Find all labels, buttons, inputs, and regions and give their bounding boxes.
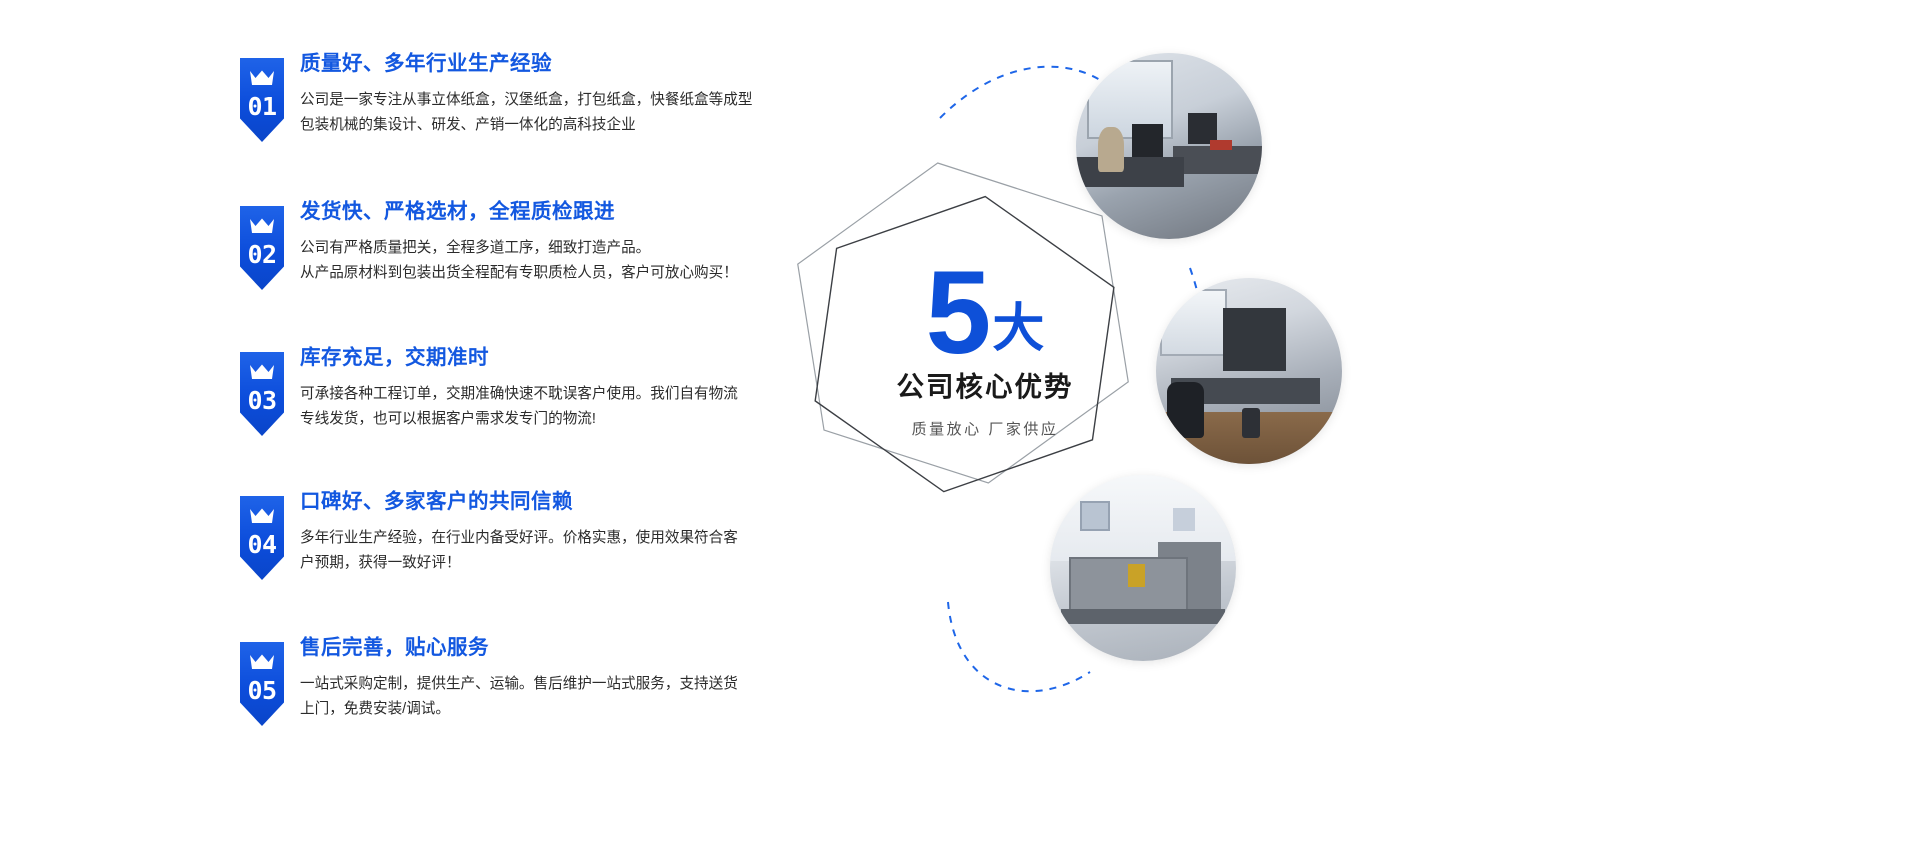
rank-badge: 02: [240, 206, 284, 290]
photo-office-interior: [1156, 278, 1342, 464]
center-subheading: 质量放心 厂家供应: [855, 418, 1115, 439]
rank-number: 04: [240, 530, 284, 559]
big-number-row: 5大: [855, 265, 1115, 362]
center-heading: 公司核心优势: [855, 364, 1115, 404]
photo-image: [1076, 53, 1262, 239]
photo-image: [1050, 475, 1236, 661]
photo-factory-machine: [1050, 475, 1236, 661]
center-badge: 5大 公司核心优势 质量放心 厂家供应: [855, 265, 1115, 439]
rank-badge: 01: [240, 58, 284, 142]
crown-icon: [249, 654, 275, 671]
advantages-banner: 01 质量好、多年行业生产经验 公司是一家专注从事立体纸盒，汉堡纸盒，打包纸盒，…: [0, 0, 1920, 847]
crown-icon: [249, 218, 275, 235]
crown-icon: [249, 70, 275, 87]
big-unit: 大: [992, 303, 1044, 355]
photo-office-workstation: [1076, 53, 1262, 239]
rank-badge: 04: [240, 496, 284, 580]
photo-image: [1156, 278, 1342, 464]
crown-icon: [249, 508, 275, 525]
rank-badge: 03: [240, 352, 284, 436]
advantage-graphic: 5大 公司核心优势 质量放心 厂家供应: [760, 0, 1920, 847]
rank-number: 05: [240, 676, 284, 705]
big-number: 5: [926, 265, 989, 362]
rank-number: 03: [240, 386, 284, 415]
rank-number: 01: [240, 92, 284, 121]
crown-icon: [249, 364, 275, 381]
rank-number: 02: [240, 240, 284, 269]
rank-badge: 05: [240, 642, 284, 726]
